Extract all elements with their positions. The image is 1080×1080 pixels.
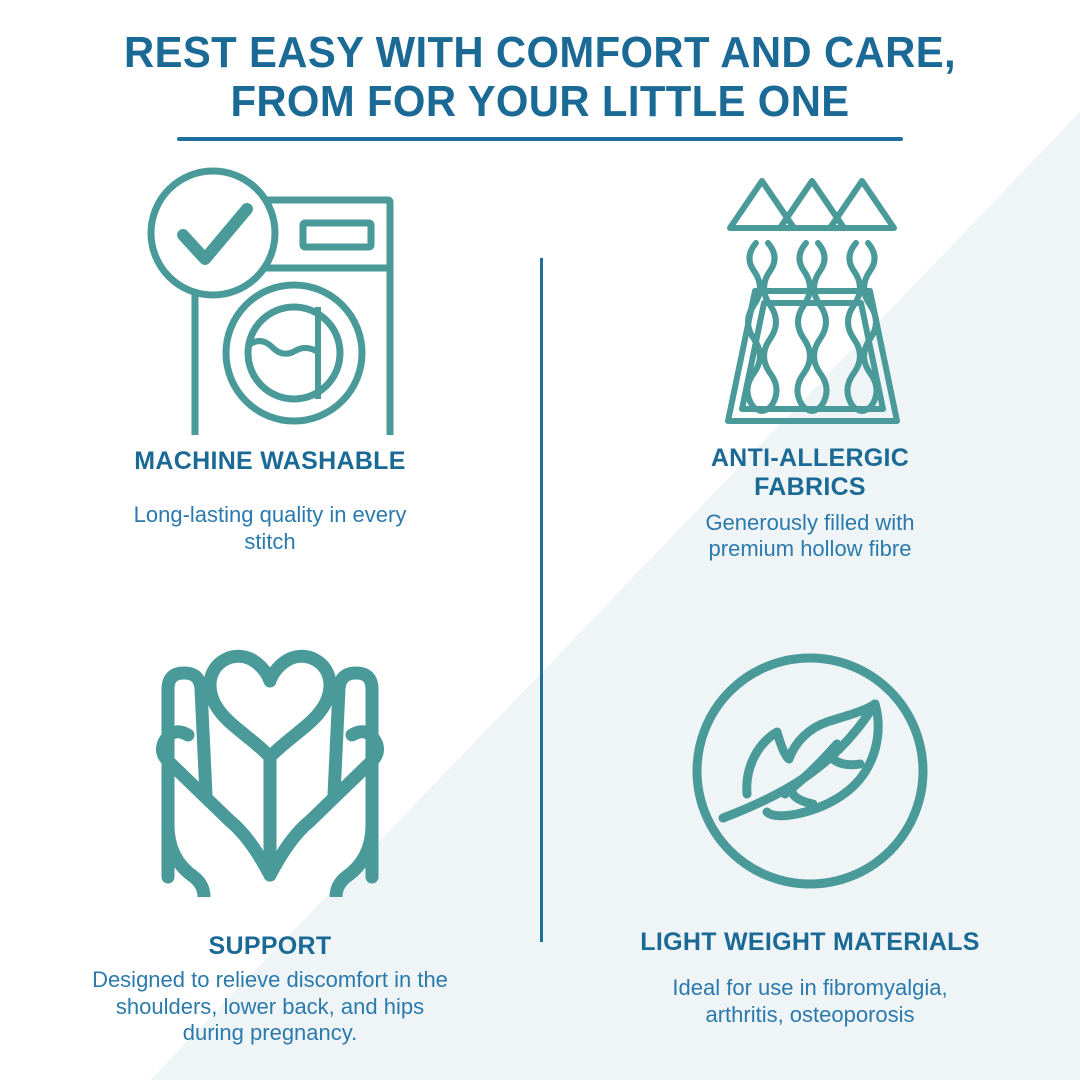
feature-card-support: SUPPORT Designed to relieve discomfort i… — [0, 600, 540, 1080]
page-title-line-1: REST EASY WITH COMFORT AND CARE, — [27, 28, 1053, 77]
breathable-mattress-arrows-icon — [680, 173, 940, 431]
icon-container-machine-washable — [135, 155, 405, 435]
icon-container-anti-allergic — [680, 168, 940, 436]
feature-title-anti-allergic: ANTI-ALLERGIC FABRICS — [660, 444, 960, 502]
feature-description-anti-allergic: Generously filled with premium hollow fi… — [695, 510, 925, 564]
feature-card-machine-washable: MACHINE WASHABLE Long-lasting quality in… — [0, 150, 540, 600]
feature-description-support: Designed to relieve discomfort in the sh… — [90, 967, 450, 1047]
feature-card-light-weight-materials: LIGHT WEIGHT MATERIALS Ideal for use in … — [540, 600, 1080, 1080]
column-divider — [540, 258, 543, 942]
infographic-canvas: REST EASY WITH COMFORT AND CARE, FROM FO… — [0, 0, 1080, 1080]
icon-container-light-weight — [685, 640, 935, 902]
feature-description-machine-washable: Long-lasting quality in every stitch — [105, 502, 435, 556]
feature-card-anti-allergic-fabrics: ANTI-ALLERGIC FABRICS Generously filled … — [540, 150, 1080, 600]
icon-container-support — [140, 632, 400, 900]
header-title-block: REST EASY WITH COMFORT AND CARE, FROM FO… — [0, 28, 1080, 141]
feature-description-light-weight: Ideal for use in fibromyalgia, arthritis… — [640, 975, 980, 1029]
feature-title-machine-washable: MACHINE WASHABLE — [134, 447, 405, 476]
page-title-line-2: FROM FOR YOUR LITTLE ONE — [27, 77, 1053, 126]
feature-title-light-weight: LIGHT WEIGHT MATERIALS — [640, 928, 979, 957]
hands-holding-heart-icon — [140, 635, 400, 897]
washing-machine-check-icon — [135, 155, 405, 435]
feature-title-support: SUPPORT — [209, 932, 332, 961]
title-underline-rule — [177, 137, 903, 141]
feather-in-circle-icon — [685, 646, 935, 896]
